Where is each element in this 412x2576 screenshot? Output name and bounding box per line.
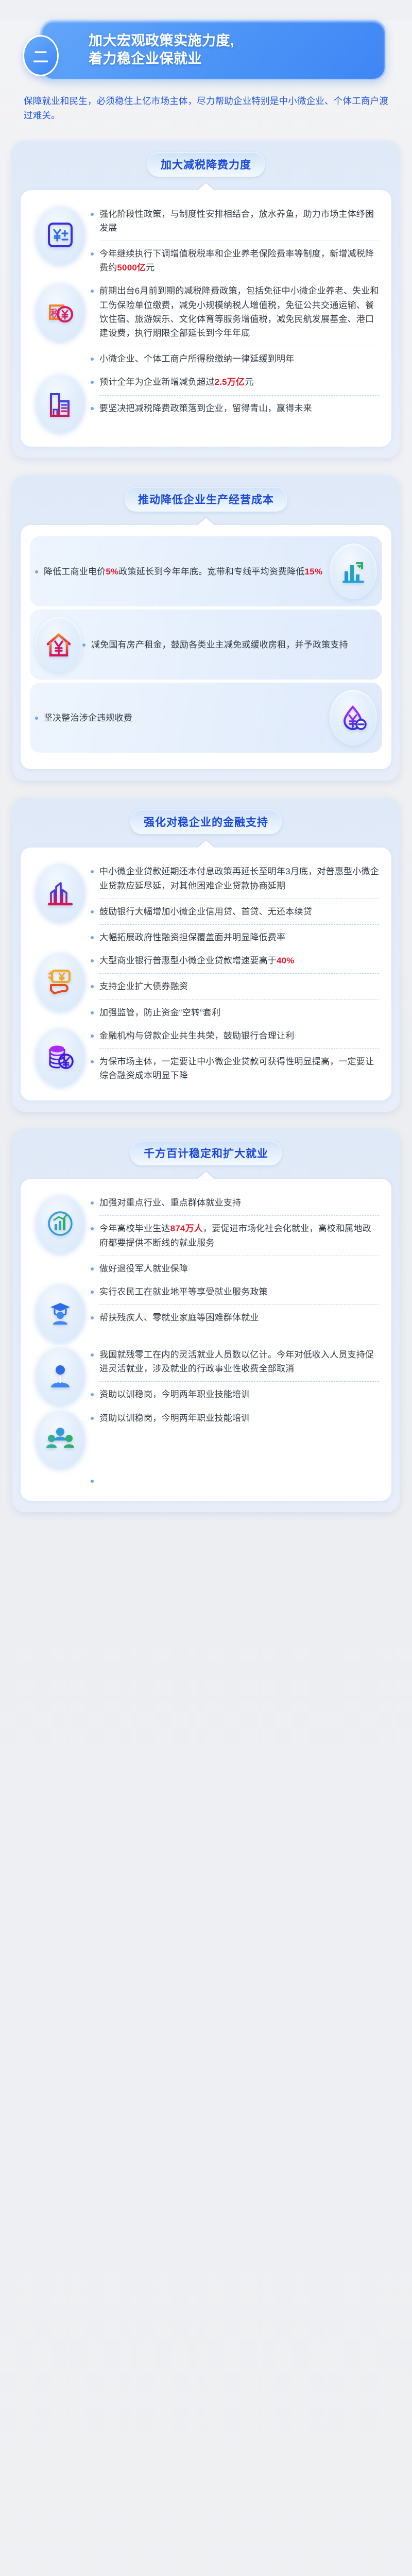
bullet-dot: [91, 358, 94, 361]
bullet-text: 金融机构与贷款企业共生共荣，鼓励银行合理让利: [99, 1029, 294, 1043]
house-yen-icon: [35, 617, 82, 672]
text-column: 金融机构与贷款企业共生共荣，鼓励银行合理让利 为保市场主体，一定要让中小微企业贷…: [91, 1024, 382, 1088]
bullet-dot: [91, 1291, 94, 1294]
section-panel-3: 中小微企业贷款延期还本付息政策再延长至明年3月底，对普惠型小微企业贷款应延尽延，…: [21, 848, 391, 1100]
icon-column: [30, 1343, 91, 1406]
bullet-text: 资助以训稳岗，今明两年职业技能培训: [99, 1387, 250, 1401]
bullet-row: 减免国有房产租金，鼓励各类业主减免或缓收房租，并予政策支持: [82, 633, 377, 656]
bullet-dot: [91, 1480, 94, 1483]
bullet-text: 预计全年为企业新增减负超过2.5万亿元: [99, 375, 253, 389]
bullet-text: 支持企业扩大债券融资: [99, 979, 188, 993]
text-column: 加强对重点行业、重点群体就业支持 今年高校毕业生达874万人，要促进市场化社会化…: [91, 1191, 382, 1280]
dashed-divider: [99, 973, 379, 974]
bullet-text: 做好退役军人就业保障: [99, 1262, 188, 1276]
bullet-dot: [91, 1201, 94, 1205]
bullet-row: 帮扶残疾人、零就业家庭等困难群体就业: [91, 1306, 379, 1329]
bullet-text: 为保市场主体，一定要让中小微企业贷款可获得性明显提高，一定要让综合融资成本明显下…: [99, 1055, 379, 1082]
group-people-icon: [35, 1409, 86, 1469]
icon-column: [30, 949, 91, 1012]
dashed-divider: [99, 924, 379, 925]
text-column: 中小微企业贷款延期还本付息政策再延长至明年3月底，对普惠型小微企业贷款应延尽延，…: [91, 860, 382, 949]
bullet-text: 强化阶段性政策，与制度性安排相结合，放水养鱼，助力市场主体纾困发展: [99, 207, 379, 235]
bullet-dot: [91, 252, 94, 256]
section-title-4: 千方百计稳定和扩大就业: [130, 1141, 282, 1165]
bullet-row: 资助以训稳岗，今明两年职业技能培训: [91, 1406, 379, 1430]
bullet-dot: [91, 1353, 94, 1357]
list-item: 降低工商业电价5%政策延长到今年年底。宽带和专线平均资费降低15%: [30, 536, 382, 606]
icon-column: [330, 690, 377, 745]
bullet-text: 鼓励银行大幅增加小微企业信用贷、首贷、无还本续贷: [99, 905, 312, 919]
icon-column: [30, 860, 91, 923]
bullet-row: 为保市场主体，一定要让中小微企业贷款可获得性明显提高，一定要让综合融资成本明显下…: [91, 1050, 379, 1087]
section-title-1: 加大减税降费力度: [147, 152, 265, 177]
dashed-divider: [99, 1381, 379, 1382]
bullet-text: 我国就残零工在内的灵活就业人员数以亿计。今年对低收入人员支持促进灵活就业，涉及就…: [99, 1348, 379, 1376]
bullet-text: 中小微企业贷款延期还本付息政策再延长至明年3月底，对普惠型小微企业贷款应延尽延，…: [99, 865, 379, 892]
bullet-text: 要坚决把减税降费政策落到企业，留得青山，赢得未来: [99, 401, 312, 415]
bullet-text: 大幅拓展政府性融资担保覆盖面并明显降低费率: [99, 930, 285, 944]
list-item: 减免国有房产租金，鼓励各类业主减免或缓收房租，并予政策支持: [30, 609, 382, 680]
bullet-row: 今年高校毕业生达874万人，要促进市场化社会化就业，高校和属地政府都要提供不断线…: [91, 1217, 379, 1254]
bullet-dot: [91, 1316, 94, 1319]
tax-yen-icon: 税: [35, 281, 86, 342]
intro-paragraph: 保障就业和民生，必须稳住上亿市场主体，尽力帮助企业特别是中小微企业、个体工商户渡…: [24, 94, 388, 123]
list-item: 大型商业银行普惠型小微企业贷款增速要高于40% 支持企业扩大债券融资 加强监管，…: [30, 949, 382, 1024]
list-item: 强化阶段性政策，与制度性安排相结合，放水养鱼，助力市场主体纾困发展 今年继续执行…: [30, 201, 382, 280]
text-column: 强化阶段性政策，与制度性安排相结合，放水养鱼，助力市场主体纾困发展 今年继续执行…: [91, 202, 382, 280]
icon-column: [30, 1024, 91, 1087]
bullet-row: 强化阶段性政策，与制度性安排相结合，放水养鱼，助力市场主体纾困发展: [91, 202, 379, 240]
icon-column: [30, 1406, 91, 1469]
text-column: 前期出台6月前到期的减税降费政策，包括免征中小微企业养老、失业和工伤保险单位缴费…: [91, 279, 382, 370]
bullet-text: 今年高校毕业生达874万人，要促进市场化社会化就业，高校和属地政府都要提供不断线…: [99, 1222, 379, 1249]
text-column: [91, 1469, 382, 1487]
highlight-value: 5%: [106, 567, 118, 577]
page-footer-space: [0, 1512, 412, 1528]
bullet-dot: [91, 870, 94, 873]
dashed-divider: [99, 346, 379, 346]
notch-arrow-2: [197, 518, 215, 526]
dashed-divider: [99, 241, 379, 241]
dashed-divider: [99, 395, 379, 396]
highlight-value: 874万人: [170, 1224, 203, 1233]
text-column: 实行农民工在就业地平等享受就业服务政策 帮扶残疾人、零就业家庭等困难群体就业: [91, 1280, 382, 1329]
bullet-row: 大幅拓展政府性融资担保覆盖面并明显降低费率: [91, 926, 379, 949]
bullet-row: [91, 1469, 379, 1487]
list-item: 税 前期出台6月前到期的减税降费政策，包括免征中小微企业养老、失业和工伤保险单位…: [30, 279, 382, 370]
text-column: 资助以训稳岗，今明两年职业技能培训: [91, 1406, 382, 1430]
bullet-text: 今年继续执行下调增值税税率和企业养老保险费率等制度，新增减税降费约5000亿元: [99, 247, 379, 275]
bullet-row: 小微企业、个体工商户所得税缴纳一律延缓到明年: [91, 347, 379, 370]
bullet-dot: [35, 570, 38, 573]
highlight-value: 40%: [277, 956, 295, 965]
bullet-row: 支持企业扩大债券融资: [91, 975, 379, 998]
icon-column: [330, 544, 377, 599]
dashed-divider: [99, 999, 379, 1000]
bullet-dot: [91, 1035, 94, 1038]
icon-column: 税: [30, 279, 91, 342]
icon-column: [30, 370, 91, 433]
section-card-3: 强化对稳企业的金融支持: [12, 798, 400, 1112]
section-panel-2: 降低工商业电价5%政策延长到今年年底。宽带和专线平均资费降低15%: [21, 525, 391, 769]
bullet-text: 小微企业、个体工商户所得税缴纳一律延缓到明年: [99, 352, 294, 366]
list-item: 预计全年为企业新增减负超过2.5万亿元 要坚决把减税降费政策落到企业，留得青山，…: [30, 370, 382, 433]
bullet-text: 加强对重点行业、重点群体就业支持: [99, 1196, 241, 1210]
page-title: 加大宏观政策实施力度, 着力稳企业保就业: [89, 32, 234, 68]
list-item: 中小微企业贷款延期还本付息政策再延长至明年3月底，对普惠型小微企业贷款应延尽延，…: [30, 859, 382, 949]
section-card-4: 千方百计稳定和扩大就业 加强对重点行业、重点群体就业支持: [12, 1129, 400, 1512]
bullet-dot: [91, 936, 94, 939]
list-item: 金融机构与贷款企业共生共荣，鼓励银行合理让利 为保市场主体，一定要让中小微企业贷…: [30, 1024, 382, 1088]
bullet-dot: [91, 407, 94, 410]
coins-yen-icon: [35, 1026, 86, 1087]
bullet-dot: [91, 1393, 94, 1396]
bullet-row: 加强监管，防止资金“空转”套利: [91, 1001, 379, 1024]
bullet-text: 前期出台6月前到期的减税降费政策，包括免征中小微企业养老、失业和工伤保险单位缴费…: [99, 284, 379, 340]
icon-column: [30, 1469, 91, 1471]
bullet-dot: [91, 985, 94, 988]
list-item: [30, 1469, 382, 1487]
icon-column: [30, 1191, 91, 1254]
growth-chart-icon: [35, 1193, 86, 1254]
city-skyline-icon: [35, 862, 86, 923]
bullet-row: 资助以训稳岗，今明两年职业技能培训: [91, 1383, 379, 1406]
bullet-row: 今年继续执行下调增值税税率和企业养老保险费率等制度，新增减税降费约5000亿元: [91, 242, 379, 279]
bullet-dot: [91, 290, 94, 293]
bullet-dot: [35, 717, 38, 720]
bullet-row: 降低工商业电价5%政策延长到今年年底。宽带和专线平均资费降低15%: [35, 560, 330, 583]
text-column: 我国就残零工在内的灵活就业人员数以亿计。今年对低收入人员支持促进灵活就业，涉及就…: [91, 1343, 382, 1406]
section-panel-4: 加强对重点行业、重点群体就业支持 今年高校毕业生达874万人，要促进市场化社会化…: [21, 1179, 391, 1500]
bullet-row: 前期出台6月前到期的减税降费政策，包括免征中小微企业养老、失业和工伤保险单位缴费…: [91, 279, 379, 345]
notch-arrow-3: [197, 840, 215, 848]
droplet-yen-minus-icon: [330, 690, 377, 745]
text-column: 坚决整治涉企违规收费: [35, 706, 330, 730]
text-column: 大型商业银行普惠型小微企业贷款增速要高于40% 支持企业扩大债券融资 加强监管，…: [91, 949, 382, 1024]
bar-chart-down-icon: [330, 544, 377, 599]
worker-person-icon: [35, 1345, 86, 1406]
list-item: 资助以训稳岗，今明两年职业技能培训: [30, 1406, 382, 1469]
list-item: 实行农民工在就业地平等享受就业服务政策 帮扶残疾人、零就业家庭等困难群体就业: [30, 1280, 382, 1343]
bullet-dot: [82, 643, 85, 647]
bullet-row: 鼓励银行大幅增加小微企业信用贷、首贷、无还本续贷: [91, 900, 379, 923]
yen-plus-minus-icon: [35, 205, 86, 265]
highlight-value: 2.5万亿: [215, 377, 245, 387]
graduate-person-icon: [35, 1282, 86, 1343]
bullet-text: 大型商业银行普惠型小微企业贷款增速要高于40%: [99, 954, 295, 968]
bullet-dot: [91, 959, 94, 962]
text-column: 预计全年为企业新增减负超过2.5万亿元 要坚决把减税降费政策落到企业，留得青山，…: [91, 370, 382, 419]
bullet-text: 降低工商业电价5%政策延长到今年年底。宽带和专线平均资费降低15%: [44, 565, 322, 579]
list-item: 我国就残零工在内的灵活就业人员数以亿计。今年对低收入人员支持促进灵活就业，涉及就…: [30, 1343, 382, 1406]
bullet-dot: [91, 381, 94, 384]
bullet-dot: [91, 910, 94, 913]
bullet-text: 帮扶残疾人、零就业家庭等困难群体就业: [99, 1311, 259, 1325]
bullet-row: 加强对重点行业、重点群体就业支持: [91, 1191, 379, 1214]
icon-column: [30, 202, 91, 265]
text-column: 减免国有房产租金，鼓励各类业主减免或缓收房租，并予政策支持: [82, 633, 377, 656]
bullet-row: 做好退役军人就业保障: [91, 1257, 379, 1280]
bullet-dot: [91, 1011, 94, 1014]
section-title-2: 推动降低企业生产经营成本: [125, 487, 287, 512]
icon-column: [35, 617, 82, 672]
dashed-divider: [99, 1215, 379, 1216]
page-header: 二 加大宏观政策实施力度, 着力稳企业保就业: [11, 20, 401, 80]
highlight-value: 5000亿: [117, 263, 146, 273]
section-card-1: 加大减税降费力度 强化阶段性政策，与制度性安排相结合，放水养鱼，助力市场主体纾困…: [12, 141, 400, 459]
bullet-row: 要坚决把减税降费政策落到企业，留得青山，赢得未来: [91, 397, 379, 420]
list-item: 加强对重点行业、重点群体就业支持 今年高校毕业生达874万人，要促进市场化社会化…: [30, 1190, 382, 1280]
section-title-3: 强化对稳企业的金融支持: [130, 809, 282, 834]
bullet-text: 坚决整治涉企违规收费: [44, 711, 132, 725]
list-item: 坚决整治涉企违规收费: [30, 683, 382, 753]
dashed-divider: [99, 1048, 379, 1049]
building-bar-icon: [35, 372, 86, 433]
bullet-dot: [91, 1227, 94, 1230]
bullet-text: 实行农民工在就业地平等享受就业服务政策: [99, 1285, 268, 1299]
bullet-row: 金融机构与贷款企业共生共荣，鼓励银行合理让利: [91, 1024, 379, 1047]
bullet-row: 实行农民工在就业地平等享受就业服务政策: [91, 1280, 379, 1303]
dashed-divider: [99, 1304, 379, 1305]
notch-arrow-1: [197, 183, 215, 191]
bullet-row: 大型商业银行普惠型小微企业贷款增速要高于40%: [91, 949, 379, 972]
section-panel-1: 强化阶段性政策，与制度性安排相结合，放水养鱼，助力市场主体纾困发展 今年继续执行…: [21, 190, 391, 447]
section-number-badge: 二: [23, 35, 59, 76]
highlight-value: 15%: [305, 567, 323, 577]
bullet-row: 坚决整治涉企违规收费: [35, 706, 330, 730]
bullet-row: 中小微企业贷款延期还本付息政策再延长至明年3月底，对普惠型小微企业贷款应延尽延，…: [91, 860, 379, 897]
dashed-divider: [99, 899, 379, 899]
bullet-text: 减免国有房产租金，鼓励各类业主减免或缓收房租，并予政策支持: [91, 638, 348, 652]
bullet-row: 我国就残零工在内的灵活就业人员数以亿计。今年对低收入人员支持促进灵活就业，涉及就…: [91, 1343, 379, 1380]
wallet-hand-yen-icon: [35, 951, 86, 1012]
bullet-dot: [91, 213, 94, 216]
bullet-row: 预计全年为企业新增减负超过2.5万亿元: [91, 370, 379, 394]
bullet-dot: [91, 1417, 94, 1420]
bullet-text: 加强监管，防止资金“空转”套利: [99, 1006, 220, 1020]
section-card-2: 推动降低企业生产经营成本 降低工商业电价5%政策延长到今年年底。宽带和专线平均资…: [12, 476, 400, 781]
icon-column: [30, 1280, 91, 1343]
bullet-dot: [91, 1060, 94, 1063]
bullet-dot: [91, 1267, 94, 1270]
bullet-text: 资助以训稳岗，今明两年职业技能培训: [99, 1411, 250, 1425]
text-column: 降低工商业电价5%政策延长到今年年底。宽带和专线平均资费降低15%: [35, 560, 330, 583]
dashed-divider: [99, 1256, 379, 1256]
notch-arrow-4: [197, 1172, 215, 1179]
